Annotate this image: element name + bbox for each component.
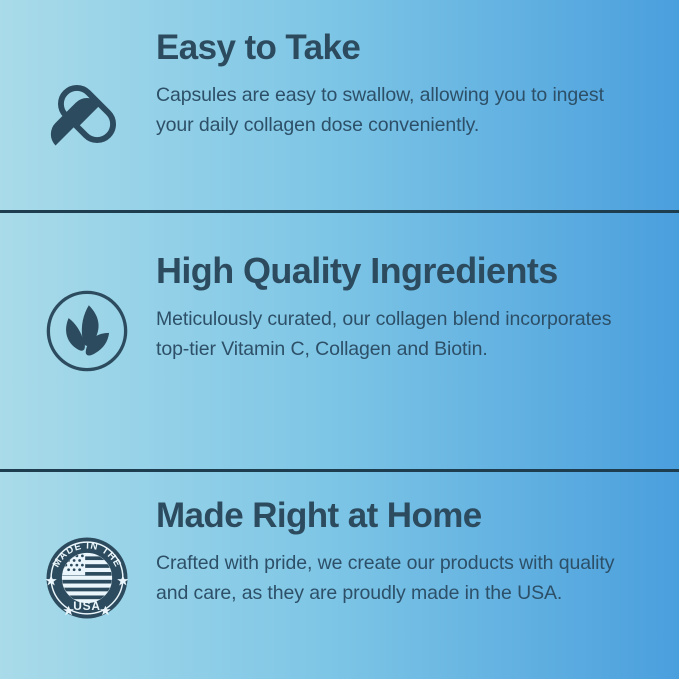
leaves-in-circle-icon <box>41 285 133 377</box>
made-in-usa-badge-icon: MADE IN THE USA <box>41 532 133 624</box>
product-feature-panel: Easy to Take Capsules are easy to swallo… <box>0 0 679 679</box>
feature-title: High Quality Ingredients <box>156 251 665 291</box>
feature-title: Made Right at Home <box>156 496 665 535</box>
feature-text-cell: Easy to Take Capsules are easy to swallo… <box>156 28 679 140</box>
feature-text-cell: Made Right at Home Crafted with pride, w… <box>156 496 679 608</box>
feature-icon-cell: MADE IN THE USA <box>18 496 156 624</box>
feature-description: Meticulously curated, our collagen blend… <box>156 305 622 364</box>
feature-title: Easy to Take <box>156 28 665 67</box>
feature-row-made-right-at-home: MADE IN THE USA Made Right at Home Craft… <box>0 472 679 679</box>
feature-text-cell: High Quality Ingredients Meticulously cu… <box>156 251 679 365</box>
feature-icon-cell <box>18 251 156 377</box>
capsule-pill-icon <box>45 72 129 156</box>
feature-description: Capsules are easy to swallow, allowing y… <box>156 81 634 140</box>
usa-badge-bottom-text: USA <box>73 599 100 613</box>
feature-icon-cell <box>18 28 156 156</box>
feature-description: Crafted with pride, we create our produc… <box>156 549 632 608</box>
feature-row-high-quality-ingredients: High Quality Ingredients Meticulously cu… <box>0 213 679 469</box>
feature-row-easy-to-take: Easy to Take Capsules are easy to swallo… <box>0 0 679 210</box>
